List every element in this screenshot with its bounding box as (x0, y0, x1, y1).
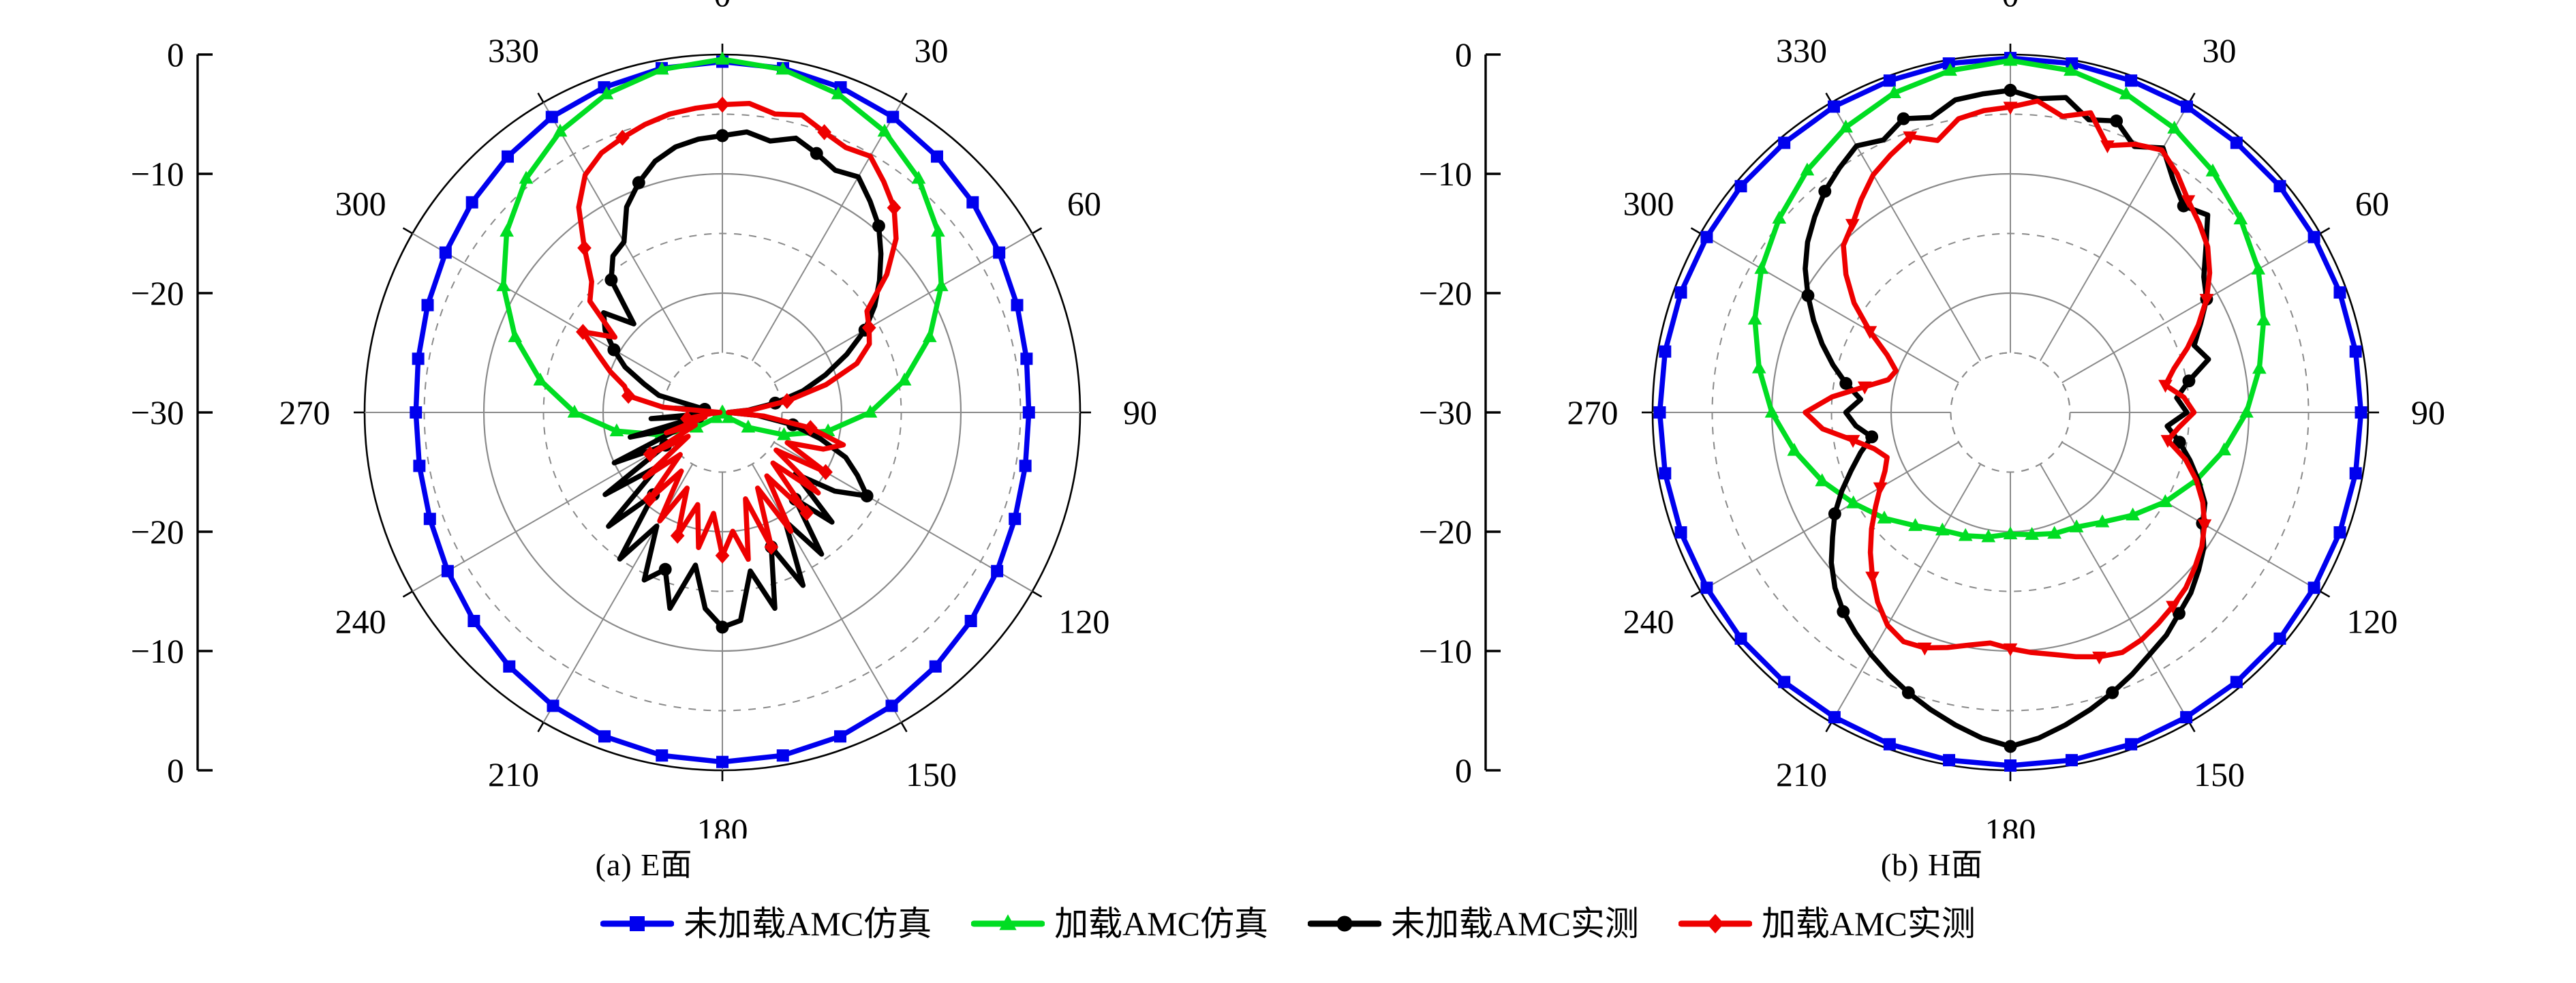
angular-tick-label: 0 (714, 0, 731, 14)
angular-tick-label: 270 (279, 393, 331, 432)
legend-label: 未加载AMC仿真 (684, 907, 932, 941)
caption-panel-b: (b) H面 (1288, 840, 2576, 885)
radial-tick-label: −20 (131, 513, 184, 551)
angular-tick (2320, 228, 2330, 234)
angular-tick-label: 270 (1567, 393, 1619, 432)
series-3 (1802, 84, 2213, 753)
polar-panel-h-plane: 03060901201501802102402703003300−10−20−3… (1288, 0, 2576, 838)
radial-axis: 0−10−20−30−20−100 (131, 35, 213, 789)
angular-tick-label: 150 (906, 755, 957, 793)
angular-tick (1691, 228, 1700, 234)
caption-panel-a: (a) E面 (0, 840, 1288, 885)
polar-plot-e-plane: 03060901201501802102402703003300−10−20−3… (0, 0, 1288, 838)
angular-tick (1691, 592, 1700, 597)
radial-tick-label: 0 (167, 751, 184, 789)
angular-tick (2190, 723, 2195, 732)
angular-tick (538, 93, 544, 102)
legend-item-4[interactable]: 加载AMC实测 (1678, 907, 1976, 941)
legend-item-1[interactable]: 未加载AMC仿真 (600, 907, 932, 941)
radial-tick-label: 0 (1455, 35, 1472, 74)
polar-grid (1642, 44, 2379, 781)
legend-key-circle-icon (1308, 909, 1381, 939)
angular-tick (1826, 723, 1832, 732)
legend-key-triangle-up-icon (971, 909, 1045, 939)
polar-plot-h-plane: 03060901201501802102402703003300−10−20−3… (1288, 0, 2576, 838)
series-3 (604, 130, 885, 634)
angular-tick-labels: 0306090120150180210240270300330 (1567, 0, 2446, 838)
angular-tick-label: 150 (2194, 755, 2245, 793)
radial-tick-label: −10 (1419, 632, 1472, 670)
angular-tick (2320, 592, 2330, 597)
radial-tick-label: −10 (131, 155, 184, 193)
legend-key-square-icon (600, 909, 674, 939)
angular-tick-label: 30 (2203, 31, 2237, 70)
figure-root: 03060901201501802102402703003300−10−20−3… (0, 0, 2576, 983)
angular-tick (902, 723, 907, 732)
angular-tick (538, 723, 544, 732)
angular-tick-label: 180 (697, 811, 748, 838)
series-4 (1805, 101, 2213, 665)
legend-label: 未加载AMC实测 (1391, 907, 1639, 941)
radial-tick-label: −10 (131, 632, 184, 670)
angular-tick (902, 93, 907, 102)
angular-tick-label: 330 (488, 31, 539, 70)
legend-key-diamond-icon (1678, 909, 1752, 939)
angular-tick-label: 240 (1623, 603, 1674, 641)
legend-label: 加载AMC实测 (1762, 907, 1976, 941)
angular-tick-label: 120 (2346, 603, 2397, 641)
radial-tick-label: −10 (1419, 155, 1472, 193)
angular-tick (403, 228, 412, 234)
angular-tick (1032, 592, 1042, 597)
angular-tick-label: 180 (1985, 811, 2036, 838)
radial-tick-label: 0 (1455, 751, 1472, 789)
angular-tick-label: 60 (2355, 185, 2389, 223)
angular-tick-label: 240 (335, 603, 386, 641)
angular-tick-label: 330 (1776, 31, 1827, 70)
legend-item-3[interactable]: 未加载AMC实测 (1308, 907, 1639, 941)
angular-tick-label: 90 (2411, 393, 2445, 432)
series-line (1805, 101, 2209, 656)
polar-panel-e-plane: 03060901201501802102402703003300−10−20−3… (0, 0, 1288, 838)
angular-tick-label: 120 (1058, 603, 1109, 641)
legend: 未加载AMC仿真加载AMC仿真未加载AMC实测加载AMC实测 (0, 907, 2576, 941)
angular-tick (1032, 228, 1042, 234)
angular-tick-label: 300 (1623, 185, 1674, 223)
radial-tick-label: −30 (131, 393, 184, 432)
angular-tick-label: 60 (1067, 185, 1101, 223)
radial-tick-label: −30 (1419, 393, 1472, 432)
radial-axis: 0−10−20−30−20−100 (1419, 35, 1501, 789)
radial-tick-label: 0 (167, 35, 184, 74)
angular-tick-label: 210 (488, 755, 539, 793)
radial-tick-label: −20 (1419, 274, 1472, 312)
angular-tick-label: 0 (2002, 0, 2019, 14)
grid-ring-minor (1951, 353, 2070, 472)
angular-tick-label: 30 (915, 31, 949, 70)
angular-tick (403, 592, 412, 597)
radial-tick-label: −20 (1419, 513, 1472, 551)
angular-tick-label: 210 (1776, 755, 1827, 793)
angular-tick-label: 90 (1123, 393, 1157, 432)
radial-tick-label: −20 (131, 274, 184, 312)
legend-item-2[interactable]: 加载AMC仿真 (971, 907, 1268, 941)
angular-tick-label: 300 (335, 185, 386, 223)
legend-label: 加载AMC仿真 (1054, 907, 1268, 941)
